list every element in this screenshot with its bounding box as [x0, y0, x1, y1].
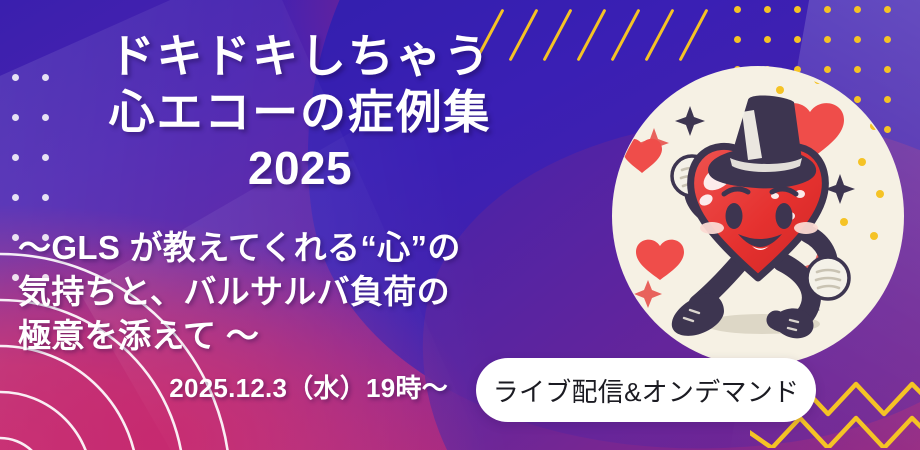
dot — [854, 36, 861, 43]
slash — [645, 9, 675, 62]
title-line-1: ドキドキしちゃう — [0, 28, 600, 84]
title-line-year: 2025 — [0, 140, 600, 196]
running-heart-character-icon — [612, 66, 904, 366]
webinar-banner: ドキドキしちゃう 心エコーの症例集 2025 〜GLS が教えてくれる“心”の … — [0, 0, 920, 450]
dot — [764, 6, 771, 13]
page-title: ドキドキしちゃう 心エコーの症例集 2025 — [0, 28, 600, 196]
dot — [884, 6, 891, 13]
dot — [734, 6, 741, 13]
dot — [734, 36, 741, 43]
dot — [824, 36, 831, 43]
delivery-format-badge: ライブ配信&オンデマンド — [476, 358, 816, 422]
subtitle-line-3: 極意を添えて 〜 — [18, 314, 618, 358]
dot — [764, 36, 771, 43]
subtitle-line-2: 気持ちと、バルサルバ負荷の — [18, 270, 618, 314]
subtitle: 〜GLS が教えてくれる“心”の 気持ちと、バルサルバ負荷の 極意を添えて 〜 — [18, 226, 618, 358]
dot — [794, 36, 801, 43]
dot — [824, 6, 831, 13]
slash — [679, 9, 709, 62]
subtitle-line-1: 〜GLS が教えてくれる“心”の — [18, 226, 618, 270]
delivery-format-badge-label: ライブ配信&オンデマンド — [493, 372, 799, 409]
dot — [884, 36, 891, 43]
dot — [854, 6, 861, 13]
mascot-stage — [612, 66, 904, 366]
title-line-2: 心エコーの症例集 — [0, 84, 600, 140]
schedule-date-time: 2025.12.3（水）19時〜 — [0, 368, 448, 405]
dot — [794, 6, 801, 13]
